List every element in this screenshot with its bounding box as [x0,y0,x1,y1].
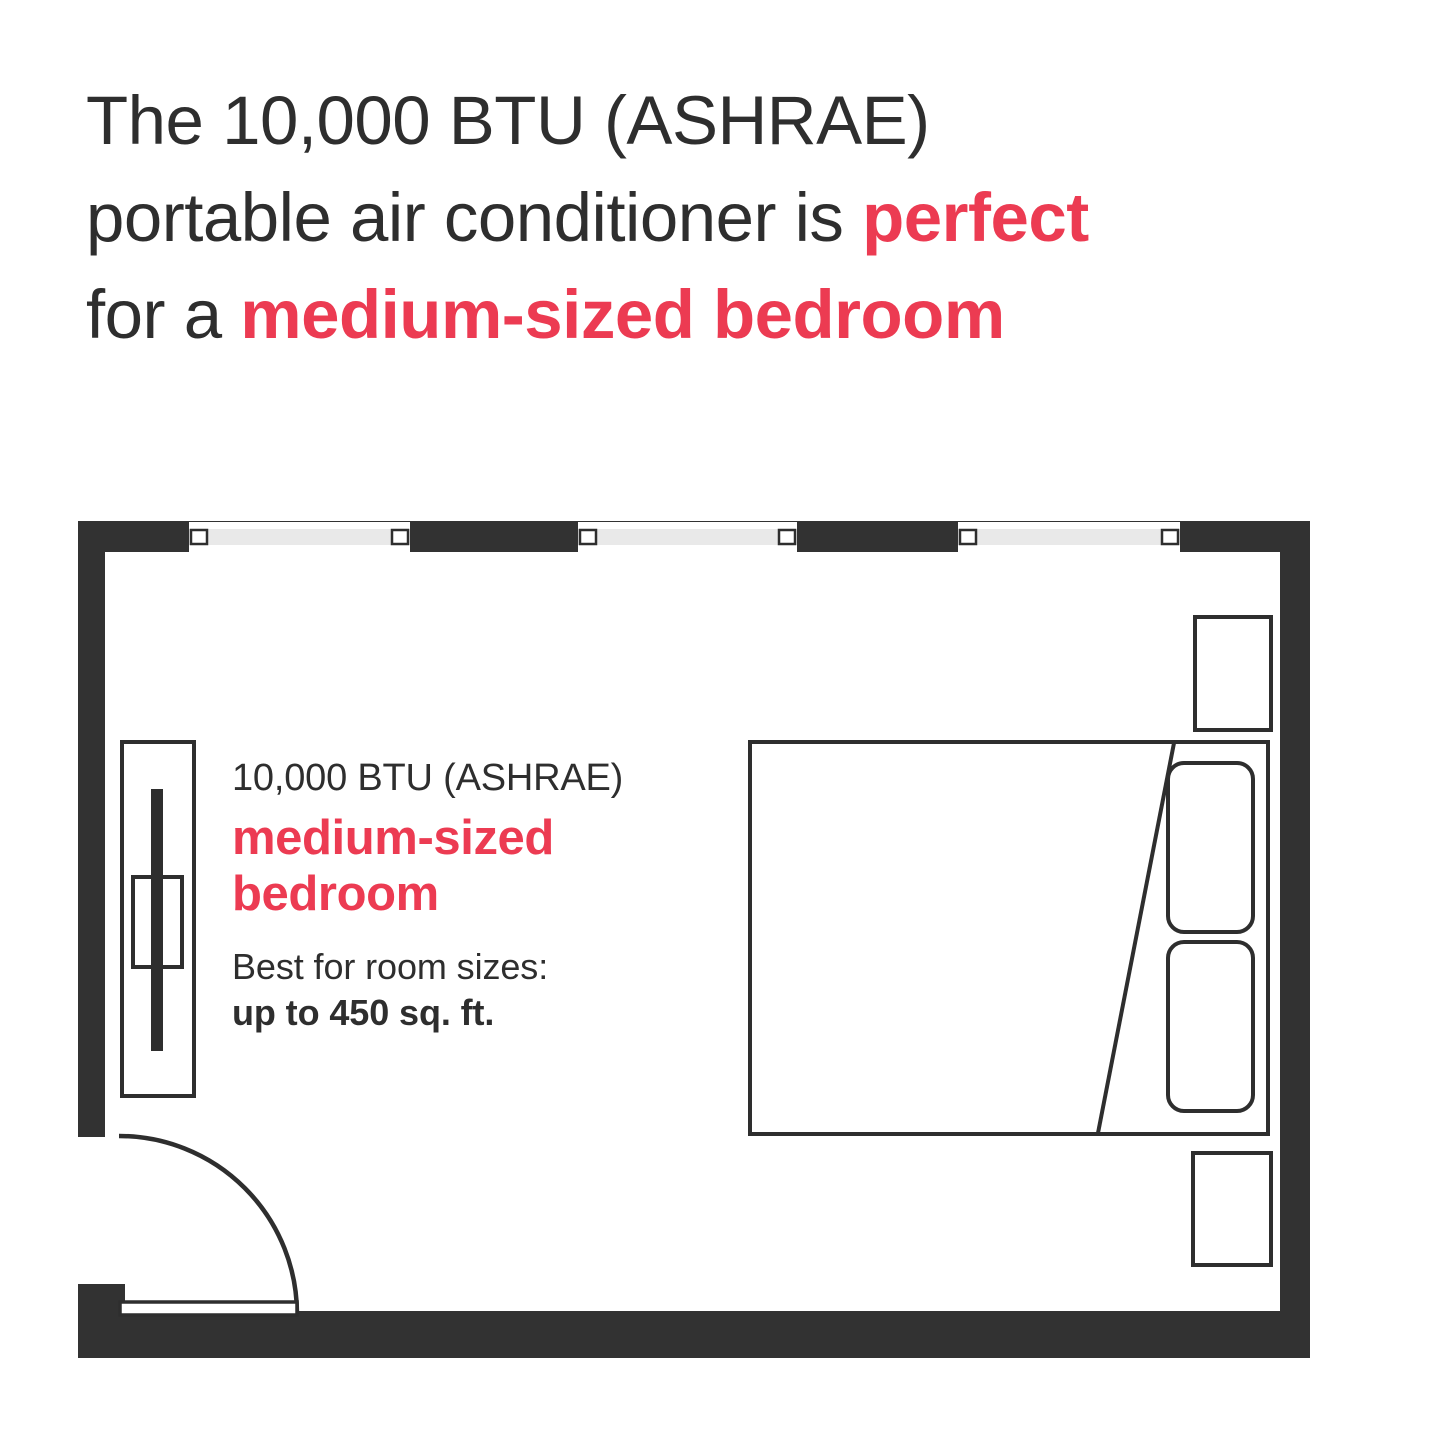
room-info-label: 10,000 BTU (ASHRAE) medium-sized bedroom… [232,752,752,1036]
door-swing-arc [119,1136,297,1314]
pillow-bottom [1168,942,1253,1111]
label-room-type: medium-sized bedroom [232,810,702,922]
bottom-wall [78,1311,1310,1358]
dresser-mirror-bar [151,789,163,1051]
pillow-top [1168,763,1253,932]
window-1 [189,522,410,552]
headline-line-2-text: portable air conditioner is [86,179,862,256]
headline-accent-room: medium-sized bedroom [240,276,1004,353]
window-2 [578,522,797,552]
label-btu-rating: 10,000 BTU (ASHRAE) [232,752,752,804]
door-panel [120,1302,297,1315]
window-3 [958,522,1180,552]
headline-accent-perfect: perfect [862,179,1089,256]
entry-door [119,1136,297,1315]
headline-line-2: portable air conditioner is perfect [86,169,1376,266]
right-wall [1280,521,1310,1358]
headline-line-3-text: for a [86,276,240,353]
label-room-size: up to 450 sq. ft. [232,990,752,1036]
nightstand-bottom [1193,1153,1271,1265]
headline-line-1-text: The 10,000 BTU (ASHRAE) [86,82,930,159]
left-wall [78,521,105,1137]
dresser [122,742,194,1096]
headline-line-3: for a medium-sized bedroom [86,266,1376,363]
bed [750,742,1268,1134]
page-title: The 10,000 BTU (ASHRAE) portable air con… [86,72,1376,363]
nightstand-top [1195,617,1271,730]
headline-line-1: The 10,000 BTU (ASHRAE) [86,72,1376,169]
label-best-for: Best for room sizes: [232,944,752,990]
